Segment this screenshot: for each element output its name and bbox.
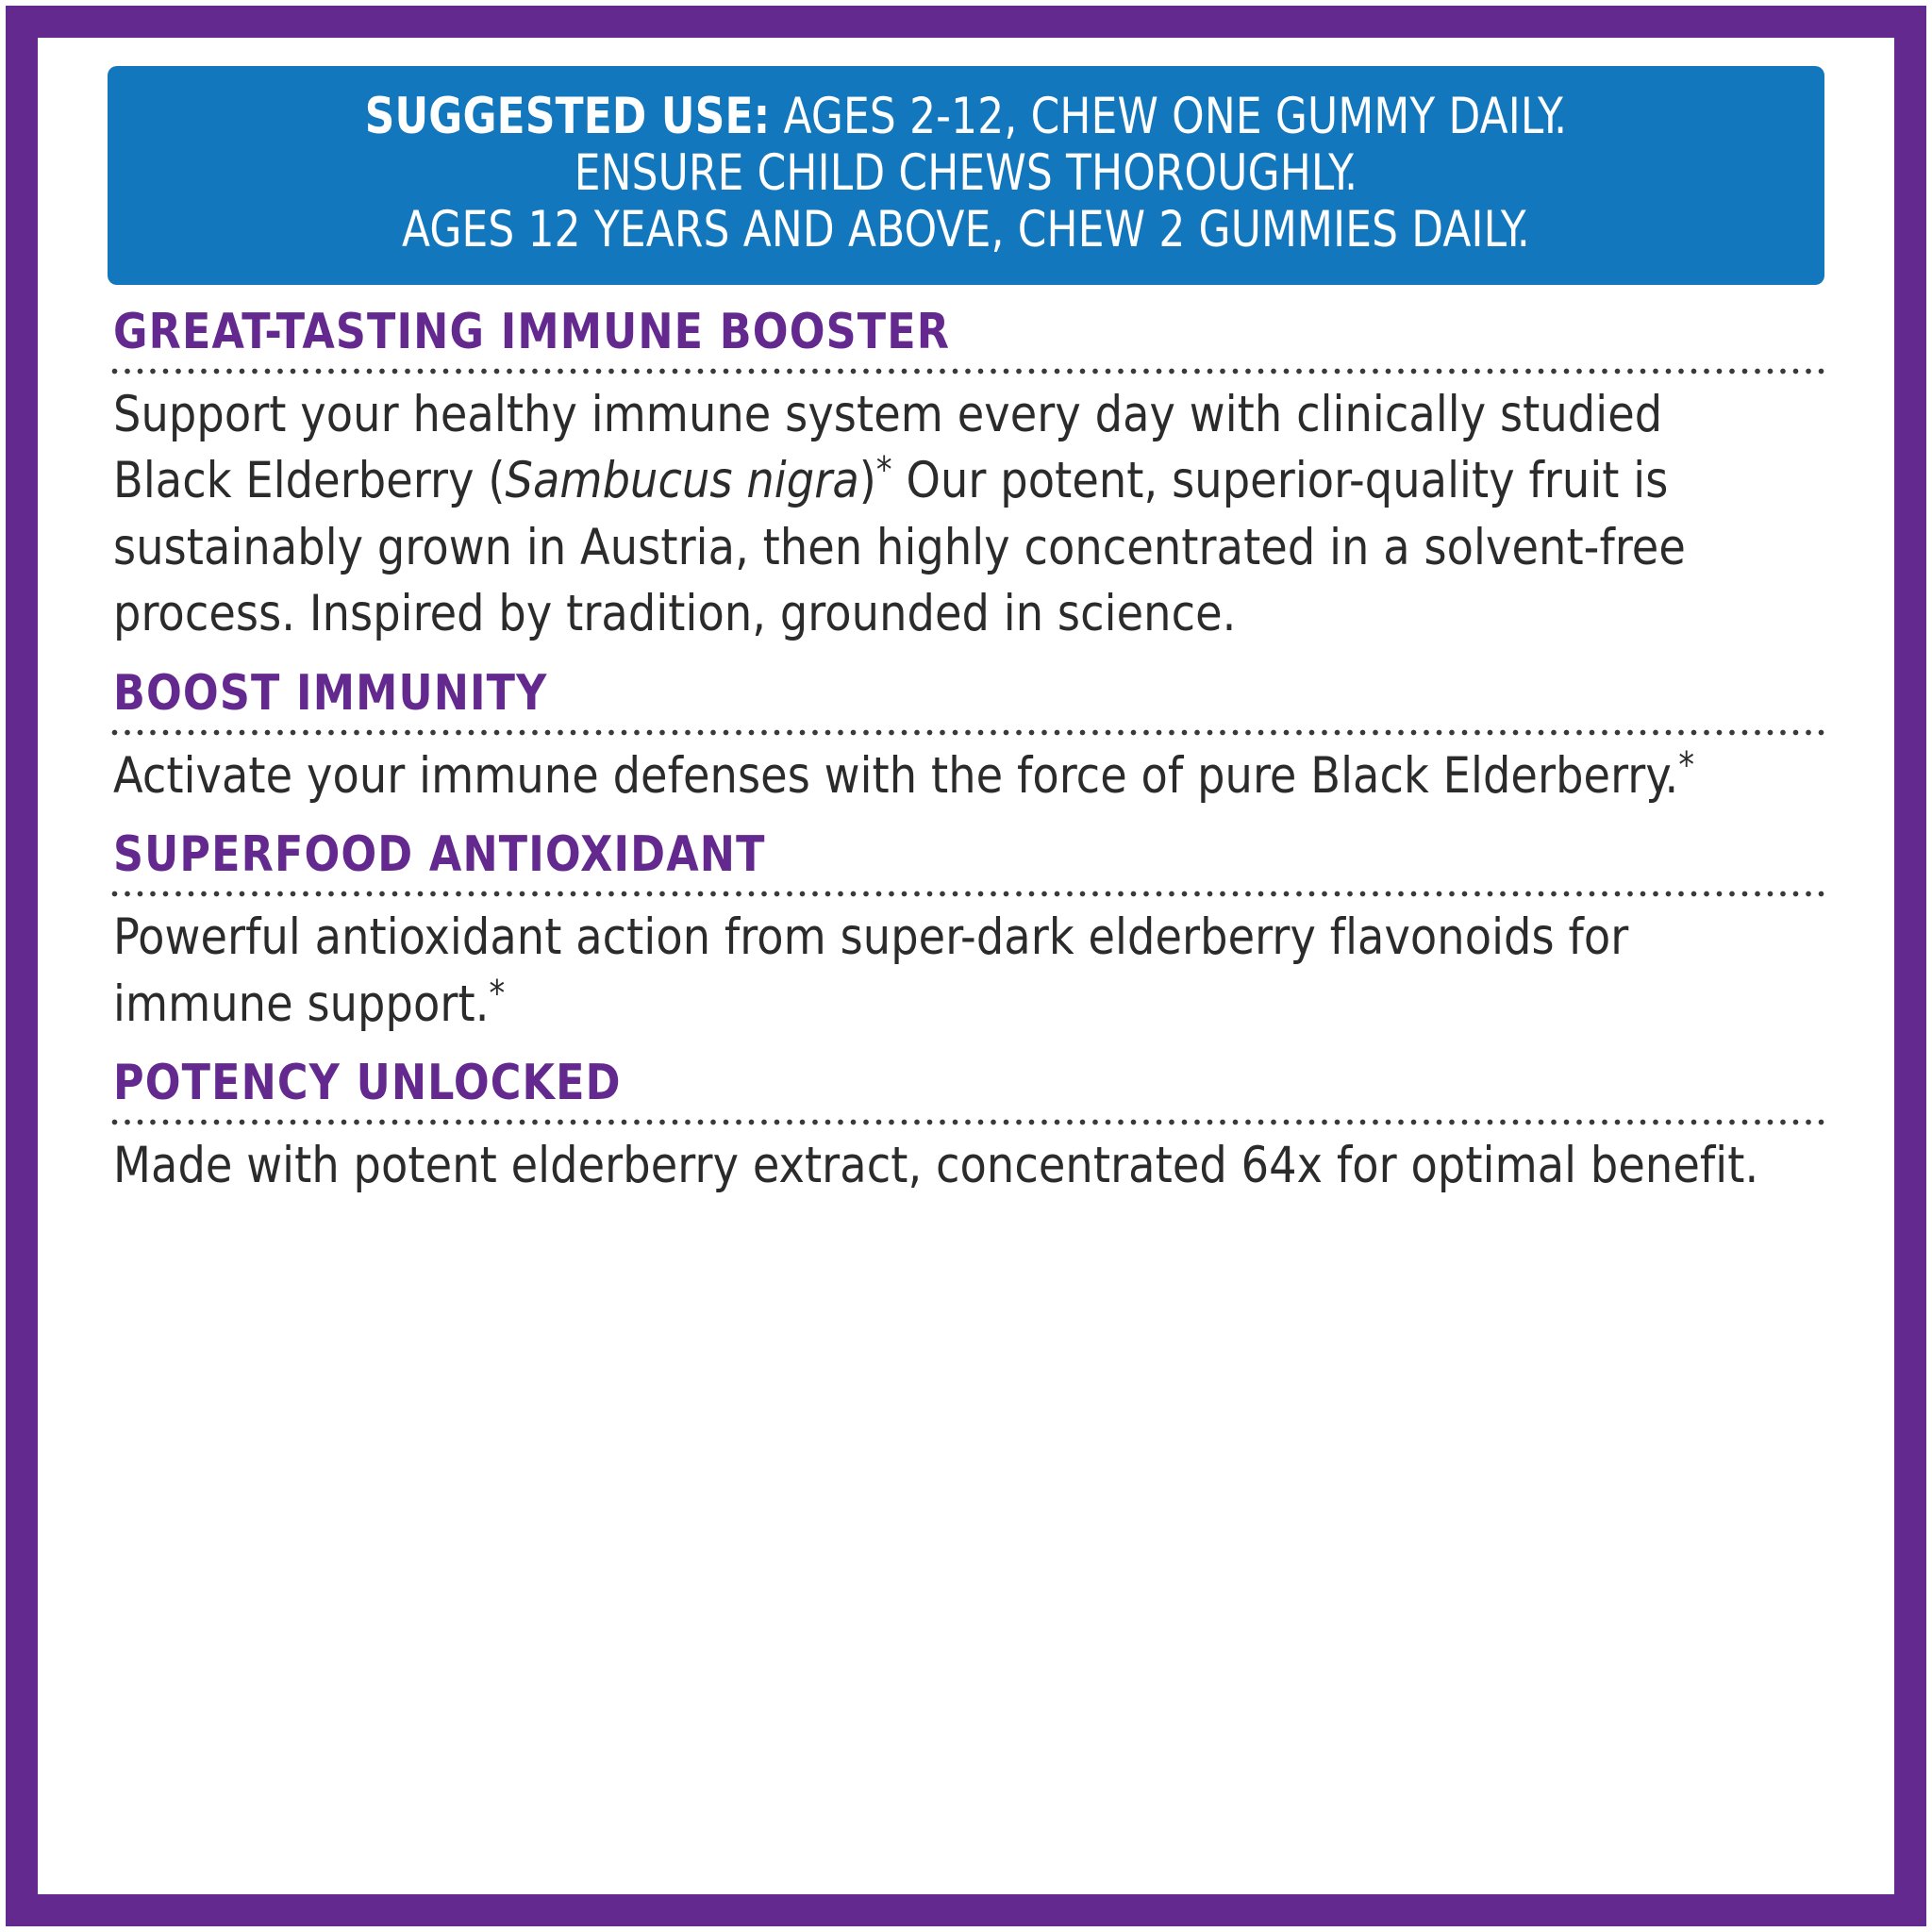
benefit-body-part1: Activate your immune defenses with the f… xyxy=(113,747,1678,805)
asterisk-mark: * xyxy=(876,449,892,491)
benefit-body-part1: Powerful antioxidant action from super-d… xyxy=(113,908,1628,1032)
suggested-use-line-1: SUGGESTED USE: AGES 2-12, CHEW ONE GUMMY… xyxy=(199,89,1734,145)
dotted-divider xyxy=(111,891,1824,899)
benefit-body-part1: Made with potent elderberry extract, con… xyxy=(113,1137,1758,1194)
benefit-heading: GREAT-TASTING IMMUNE BOOSTER xyxy=(113,308,1739,357)
benefit-heading: BOOST IMMUNITY xyxy=(113,669,1739,718)
dotted-divider xyxy=(111,729,1824,738)
purple-border-frame: SUGGESTED USE: AGES 2-12, CHEW ONE GUMMY… xyxy=(6,6,1926,1926)
benefit-body: Powerful antioxidant action from super-d… xyxy=(113,905,1774,1038)
suggested-use-label: SUGGESTED USE: xyxy=(365,88,771,145)
label-content-area: SUGGESTED USE: AGES 2-12, CHEW ONE GUMMY… xyxy=(38,38,1894,1894)
dotted-divider xyxy=(111,1119,1824,1127)
benefit-section-superfood-antioxidant: SUPERFOOD ANTIOXIDANT Powerful antioxida… xyxy=(108,830,1824,1038)
asterisk-mark: * xyxy=(489,973,505,1014)
supplement-label-panel: SUGGESTED USE: AGES 2-12, CHEW ONE GUMMY… xyxy=(0,0,1932,1932)
benefit-body-italic-species: Sambucus nigra xyxy=(506,452,859,509)
suggested-use-line-1-rest: AGES 2-12, CHEW ONE GUMMY DAILY. xyxy=(770,88,1567,145)
benefit-section-potency-unlocked: POTENCY UNLOCKED Made with potent elderb… xyxy=(108,1058,1824,1199)
benefit-heading: SUPERFOOD ANTIOXIDANT xyxy=(113,830,1739,879)
benefit-body: Support your healthy immune system every… xyxy=(113,382,1774,648)
benefit-section-boost-immunity: BOOST IMMUNITY Activate your immune defe… xyxy=(108,669,1824,809)
asterisk-mark: * xyxy=(1678,744,1694,786)
suggested-use-banner: SUGGESTED USE: AGES 2-12, CHEW ONE GUMMY… xyxy=(108,66,1824,285)
dotted-divider xyxy=(111,368,1824,376)
suggested-use-line-3: AGES 12 YEARS AND ABOVE, CHEW 2 GUMMIES … xyxy=(199,202,1734,258)
benefit-body-part2: ) xyxy=(859,452,876,509)
suggested-use-line-2: ENSURE CHILD CHEWS THOROUGHLY. xyxy=(199,145,1734,202)
benefit-section-great-tasting-immune-booster: GREAT-TASTING IMMUNE BOOSTER Support you… xyxy=(108,308,1824,648)
benefit-body: Activate your immune defenses with the f… xyxy=(113,743,1774,809)
benefit-body: Made with potent elderberry extract, con… xyxy=(113,1133,1774,1199)
benefit-heading: POTENCY UNLOCKED xyxy=(113,1058,1739,1108)
